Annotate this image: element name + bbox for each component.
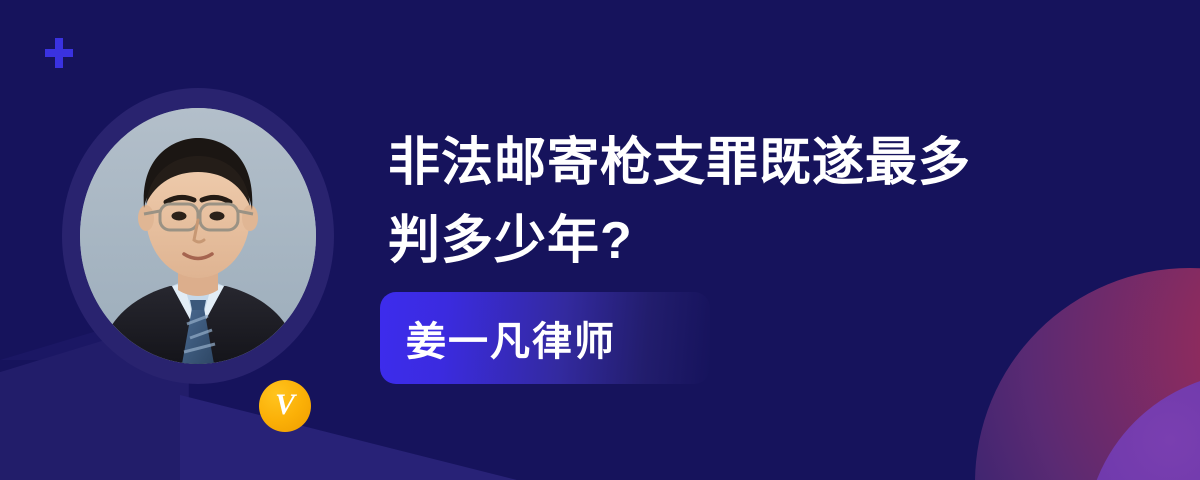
avatar-photo <box>80 108 316 364</box>
promo-card: V 非法邮寄枪支罪既遂最多 判多少年? 姜一凡律师 <box>0 0 1200 480</box>
verified-badge-glyph: V <box>275 390 295 420</box>
page-title-line-1: 非法邮寄枪支罪既遂最多 <box>388 124 1128 202</box>
lawyer-name-badge[interactable]: 姜一凡律师 <box>380 292 710 384</box>
avatar[interactable]: V <box>62 88 334 384</box>
lawyer-name-label: 姜一凡律师 <box>380 309 616 367</box>
plus-icon <box>45 38 73 68</box>
headline-block: 非法邮寄枪支罪既遂最多 判多少年? <box>388 124 1128 280</box>
page-title-line-2: 判多少年? <box>388 202 1128 280</box>
verified-v-icon: V <box>259 380 311 432</box>
decorative-polygon-bottom <box>180 395 520 480</box>
